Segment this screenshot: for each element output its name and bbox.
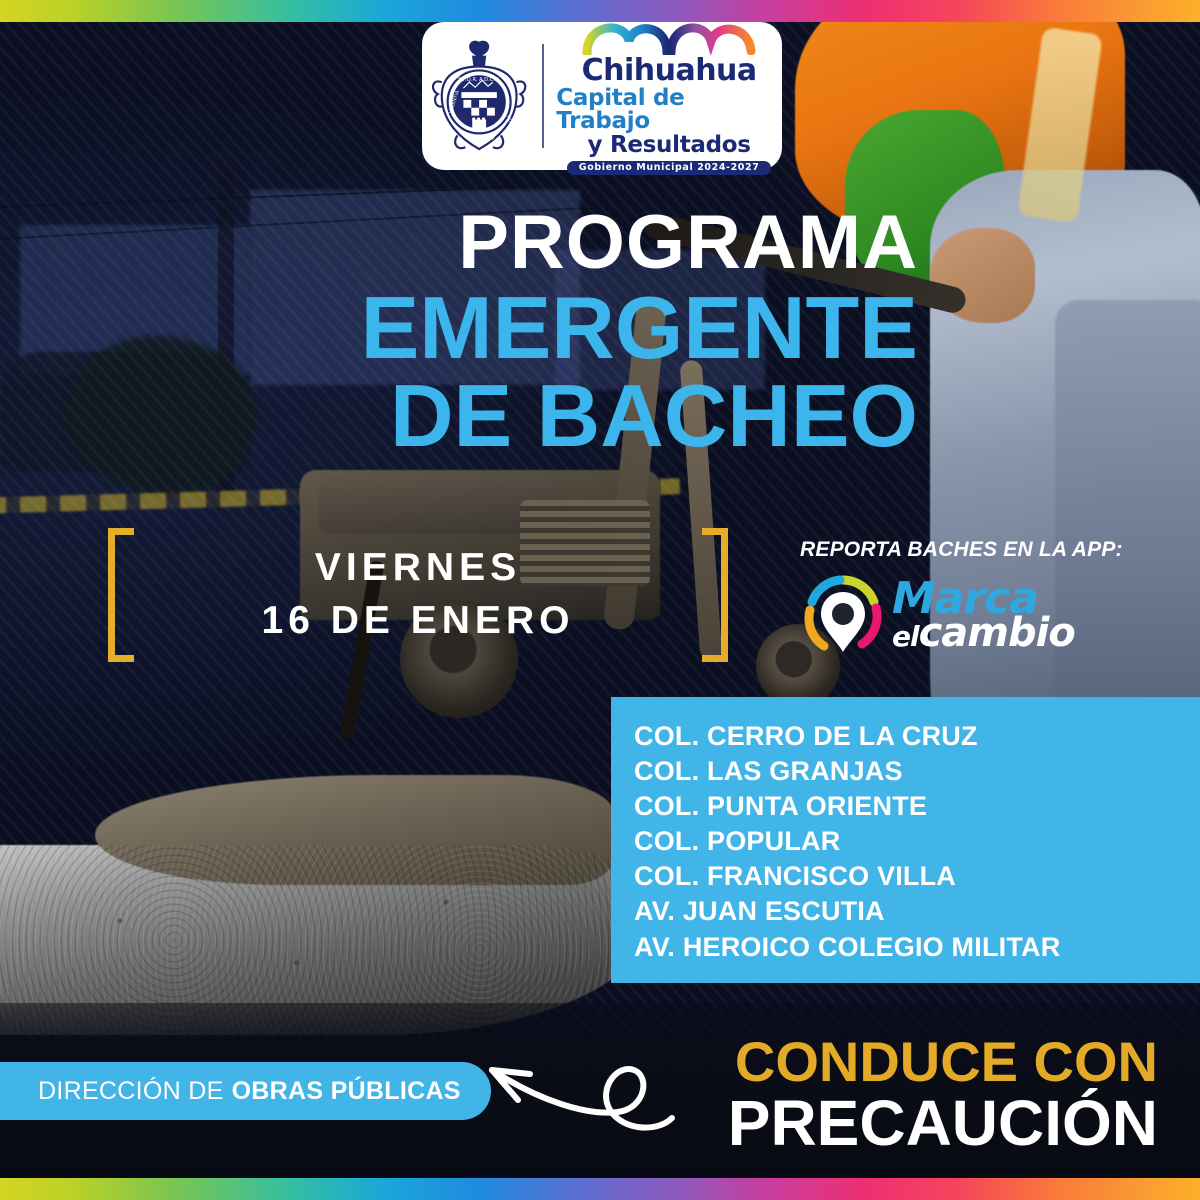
wordmark-cambio: cambio xyxy=(919,610,1075,656)
date-block: VIERNES 16 DE ENERO xyxy=(108,528,728,662)
poster-canvas: S.P.Q.R. A.D.C.H. VALENTIA LEALTAD HOSPI… xyxy=(0,0,1200,1200)
date-text: VIERNES 16 DE ENERO xyxy=(134,528,702,662)
wordmark-el: el xyxy=(892,620,919,653)
safety-tagline: CONDUCE CON PRECAUCIÓN xyxy=(728,1034,1158,1156)
list-item: COL. FRANCISCO VILLA xyxy=(634,859,1200,894)
chihuahua-coat-of-arms-icon: S.P.Q.R. A.D.C.H. VALENTIA LEALTAD HOSPI… xyxy=(428,36,530,156)
headline-line-2: EMERGENTE xyxy=(0,285,918,371)
svg-text:LEALTAD: LEALTAD xyxy=(473,135,494,141)
marca-el-cambio-wordmark: Marca elcambio xyxy=(892,580,1075,650)
bottom-gradient-bar xyxy=(0,1178,1200,1200)
brand-term-pill: Gobierno Municipal 2024-2027 xyxy=(567,161,772,176)
streets-panel: COL. CERRO DE LA CRUZ COL. LAS GRANJAS C… xyxy=(611,697,1200,983)
report-app-block: REPORTA BACHES EN LA APP: Marca elcambio xyxy=(800,538,1100,658)
list-item: COL. LAS GRANJAS xyxy=(634,754,1200,789)
headline-block: PROGRAMA EMERGENTE DE BACHEO xyxy=(0,205,960,459)
brand-line-2: Capital de Trabajo xyxy=(556,87,782,133)
government-logo-card: S.P.Q.R. A.D.C.H. VALENTIA LEALTAD HOSPI… xyxy=(422,22,782,170)
report-app-label: REPORTA BACHES EN LA APP: xyxy=(800,538,1100,562)
brand-line-3: y Resultados xyxy=(588,134,751,157)
bracket-right-icon xyxy=(702,528,728,662)
department-prefix: DIRECCIÓN DE xyxy=(38,1077,224,1106)
svg-text:HOSPITALIDAD: HOSPITALIDAD xyxy=(505,114,522,150)
logo-divider xyxy=(542,44,544,148)
headline-line-3: DE BACHEO xyxy=(0,373,918,459)
list-item: AV. HEROICO COLEGIO MILITAR xyxy=(634,930,1200,965)
headline-line-1: PROGRAMA xyxy=(0,205,918,281)
list-item: COL. CERRO DE LA CRUZ xyxy=(634,719,1200,754)
svg-text:S.P.Q.R. A.D.C.H.: S.P.Q.R. A.D.C.H. xyxy=(458,77,501,83)
date-day-date: 16 DE ENERO xyxy=(262,595,575,648)
tagline-line-2: PRECAUCIÓN xyxy=(728,1091,1158,1156)
list-item: COL. POPULAR xyxy=(634,824,1200,859)
brand-line-1: Chihuahua xyxy=(582,56,757,86)
tagline-line-1: CONDUCE CON xyxy=(728,1034,1158,1090)
chihuahua-rainbow-arcs-icon xyxy=(581,17,757,55)
date-day-name: VIERNES xyxy=(315,542,521,595)
department-name: OBRAS PÚBLICAS xyxy=(232,1077,461,1106)
wordmark-line-2: elcambio xyxy=(892,616,1075,650)
marca-el-cambio-pin-icon xyxy=(800,572,886,658)
marca-el-cambio-logo[interactable]: Marca elcambio xyxy=(800,572,1100,658)
curly-arrow-left-icon xyxy=(468,1034,678,1144)
top-gradient-bar xyxy=(0,0,1200,22)
list-item: COL. PUNTA ORIENTE xyxy=(634,789,1200,824)
list-item: AV. JUAN ESCUTIA xyxy=(634,894,1200,929)
bracket-left-icon xyxy=(108,528,134,662)
chihuahua-brand-lockup: Chihuahua Capital de Trabajo y Resultado… xyxy=(556,17,782,176)
department-banner: DIRECCIÓN DE OBRAS PÚBLICAS xyxy=(0,1062,491,1120)
